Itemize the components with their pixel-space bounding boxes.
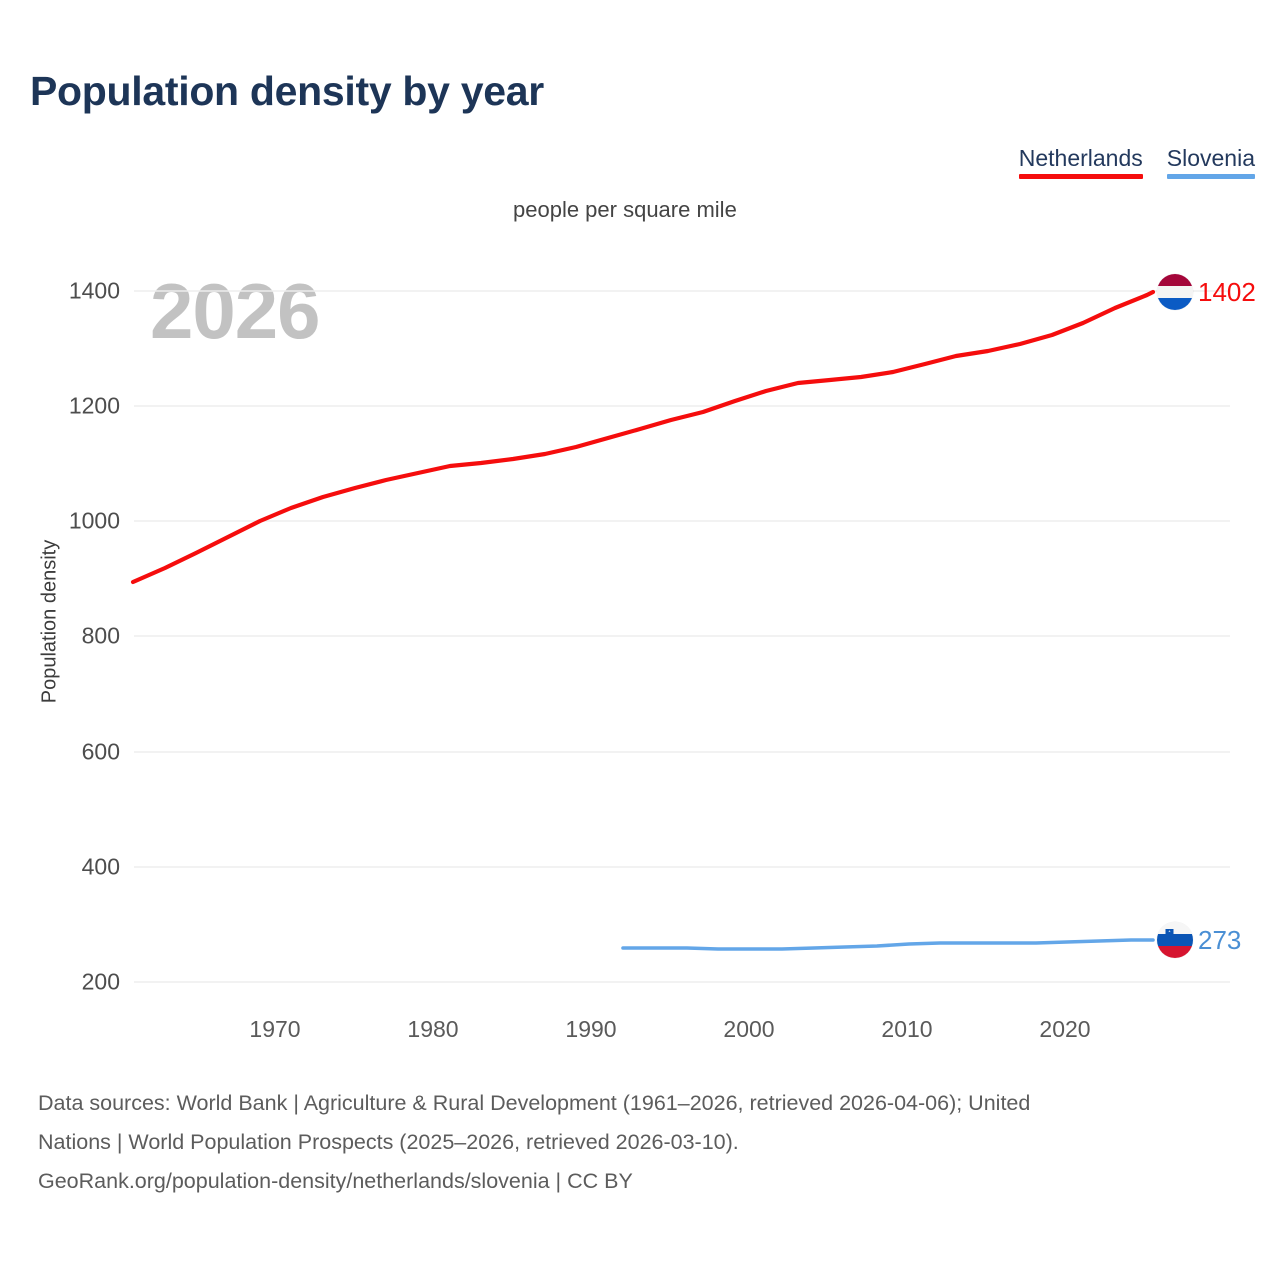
ytick-label-400: 400 [82, 854, 120, 881]
xtick-label-1980: 1980 [407, 1016, 458, 1043]
footer-line-2: Nations | World Population Prospects (20… [38, 1123, 1268, 1162]
footer-line-1: Data sources: World Bank | Agriculture &… [38, 1084, 1268, 1123]
gridlines [134, 291, 1230, 982]
endpoint-slovenia: 273 [1157, 922, 1241, 958]
xtick-label-1990: 1990 [565, 1016, 616, 1043]
ytick-label-200: 200 [82, 969, 120, 996]
endpoint-value-netherlands: 1402 [1198, 279, 1256, 305]
slovenia-flag-icon [1157, 922, 1193, 958]
series-line-slovenia [623, 940, 1153, 949]
yaxis-title: Population density [39, 512, 62, 732]
endpoint-value-slovenia: 273 [1198, 927, 1241, 953]
chart-plot-area: 2026 1400 1200 1000 800 600 400 200 1970… [0, 0, 1280, 1060]
xtick-label-2020: 2020 [1039, 1016, 1090, 1043]
ytick-label-1200: 1200 [69, 393, 120, 420]
ytick-label-1400: 1400 [69, 278, 120, 305]
ytick-label-600: 600 [82, 739, 120, 766]
series-line-netherlands [133, 292, 1153, 582]
footer-line-3: GeoRank.org/population-density/netherlan… [38, 1162, 1268, 1201]
xtick-label-2010: 2010 [881, 1016, 932, 1043]
endpoint-netherlands: 1402 [1157, 274, 1256, 310]
xtick-label-2000: 2000 [723, 1016, 774, 1043]
netherlands-flag-icon [1157, 274, 1193, 310]
xtick-label-1970: 1970 [249, 1016, 300, 1043]
ytick-label-800: 800 [82, 623, 120, 650]
slovenia-crest-icon [1157, 922, 1193, 958]
chart-canvas [0, 0, 1280, 1060]
ytick-label-1000: 1000 [69, 508, 120, 535]
footer-credits: Data sources: World Bank | Agriculture &… [38, 1084, 1268, 1201]
